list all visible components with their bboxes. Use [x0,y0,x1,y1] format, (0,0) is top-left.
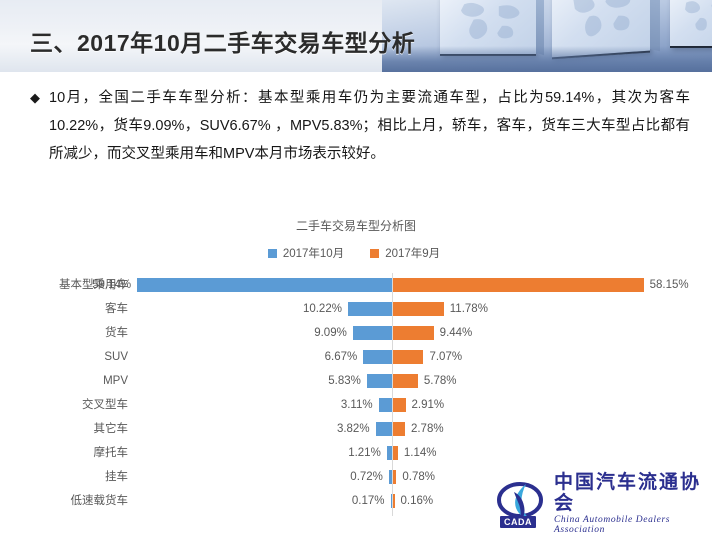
cube-side-face [536,0,544,55]
decorative-cube-icon [552,0,650,59]
chart-bar-sep[interactable] [393,278,644,292]
chart-legend: 2017年10月 2017年9月 [0,245,712,261]
summary-bullet-block: ◆ 10月，全国二手车车型分析：基本型乘用车仍为主要流通车型，占比为59.14%… [30,84,690,168]
world-map-icon [450,0,529,49]
legend-item-series-1[interactable]: 2017年9月 [370,245,440,261]
chart-value-label-oct: 9.09% [314,321,347,345]
chart-bar-oct[interactable] [137,278,392,292]
chart-category-label: 交叉型车 [0,393,128,417]
legend-swatch-icon [268,249,277,258]
chart-row: MPV5.83%5.78% [0,369,712,393]
chart-bar-oct[interactable] [389,470,392,484]
chart-value-label-sep: 11.78% [450,297,488,321]
cada-name-cn: 中国汽车流通协会 [554,473,704,515]
chart-category-label: MPV [0,369,128,393]
chart-bar-oct[interactable] [391,494,393,508]
chart-value-label-oct: 0.17% [352,489,385,513]
chart-row: 摩托车1.21%1.14% [0,441,712,465]
cada-logo: CADA 中国汽车流通协会 China Automobile Dealers A… [496,478,704,530]
chart-bar-oct[interactable] [363,350,392,364]
legend-item-series-0[interactable]: 2017年10月 [268,245,344,261]
legend-label: 2017年10月 [283,245,344,261]
chart-value-label-sep: 5.78% [424,369,457,393]
chart-value-label-oct: 0.72% [350,465,383,489]
chart-value-label-oct: 3.11% [341,393,373,417]
chart-row: 货车9.09%9.44% [0,321,712,345]
chart-bar-sep[interactable] [393,446,398,460]
summary-paragraph: 10月，全国二手车车型分析：基本型乘用车仍为主要流通车型，占比为59.14%，其… [49,84,690,168]
chart-category-label: 其它车 [0,417,128,441]
world-map-icon [677,0,712,42]
page-title: 三、2017年10月二手车交易车型分析 [30,24,415,58]
chart-bar-sep[interactable] [393,422,405,436]
chart-bar-oct[interactable] [367,374,392,388]
chart-row: 客车10.22%11.78% [0,297,712,321]
cada-abbr-label: CADA [500,516,536,528]
chart-row: 其它车3.82%2.78% [0,417,712,441]
decorative-cube-icon [670,0,712,48]
chart-row: SUV6.67%7.07% [0,345,712,369]
chart-value-label-sep: 2.91% [412,393,445,417]
chart-title: 二手车交易车型分析图 [0,217,712,234]
chart-bar-sep[interactable] [393,470,396,484]
chart-bar-oct[interactable] [376,422,392,436]
chart-row: 基本型乘用车59.14%58.15% [0,273,712,297]
chart-bar-oct[interactable] [353,326,392,340]
chart-value-label-oct: 5.83% [328,369,361,393]
chart-bar-oct[interactable] [348,302,392,316]
chart-value-label-sep: 58.15% [650,273,689,297]
chart-category-label: 挂车 [0,465,128,489]
chart-bar-sep[interactable] [393,374,418,388]
chart-bar-oct[interactable] [379,398,392,412]
legend-label: 2017年9月 [385,245,440,261]
cada-name-en: China Automobile Dealers Association [554,515,704,535]
chart-bar-sep[interactable] [393,494,395,508]
cada-emblem-icon: CADA [496,480,550,528]
decorative-cube-icon [440,0,536,56]
slide-header-banner: 三、2017年10月二手车交易车型分析 [0,0,712,72]
chart-value-label-oct: 1.21% [348,441,381,465]
chart-value-label-oct: 59.14% [92,273,131,297]
header-decoration-cubes [382,0,712,72]
chart-value-label-oct: 3.82% [337,417,370,441]
chart-row: 交叉型车3.11%2.91% [0,393,712,417]
chart-value-label-oct: 6.67% [325,345,358,369]
chart-value-label-sep: 7.07% [429,345,462,369]
chart-bar-sep[interactable] [393,326,434,340]
chart-value-label-sep: 2.78% [411,417,444,441]
bullet-diamond-icon: ◆ [30,84,40,112]
legend-swatch-icon [370,249,379,258]
chart-bar-oct[interactable] [387,446,392,460]
cube-side-face [650,0,660,51]
chart-category-label: 客车 [0,297,128,321]
chart-bar-sep[interactable] [393,302,444,316]
chart-category-label: 摩托车 [0,441,128,465]
chart-bar-sep[interactable] [393,398,406,412]
chart-category-label: 货车 [0,321,128,345]
chart-value-label-sep: 9.44% [440,321,473,345]
chart-category-label: SUV [0,345,128,369]
world-map-icon [562,0,642,51]
chart-value-label-sep: 1.14% [404,441,437,465]
chart-bar-sep[interactable] [393,350,423,364]
chart-value-label-oct: 10.22% [303,297,342,321]
chart-category-label: 低速载货车 [0,489,128,513]
cada-logo-text: 中国汽车流通协会 China Automobile Dealers Associ… [554,473,704,535]
chart-value-label-sep: 0.16% [401,489,434,513]
chart-value-label-sep: 0.78% [402,465,435,489]
